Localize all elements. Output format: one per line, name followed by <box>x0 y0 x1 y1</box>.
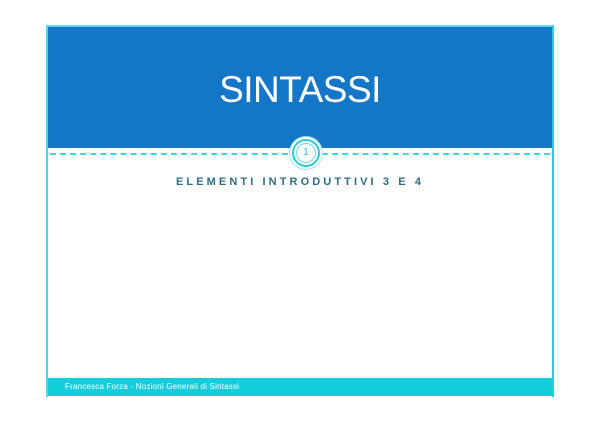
slide-number-badge: 1 <box>292 139 320 167</box>
badge-inner-ring: 1 <box>296 143 316 163</box>
slide-body-content-area <box>98 222 598 402</box>
title-banner: SINTASSI <box>48 27 552 148</box>
footer-bar: Francesca Forza - Nozioni Generali di Si… <box>48 378 552 396</box>
slide-title: SINTASSI <box>48 69 552 111</box>
badge-number-label: 1 <box>303 148 309 158</box>
slide-subtitle: ELEMENTI INTRODUTTIVI 3 E 4 <box>0 176 600 188</box>
footer-label: Francesca Forza - Nozioni Generali di Si… <box>65 378 239 396</box>
